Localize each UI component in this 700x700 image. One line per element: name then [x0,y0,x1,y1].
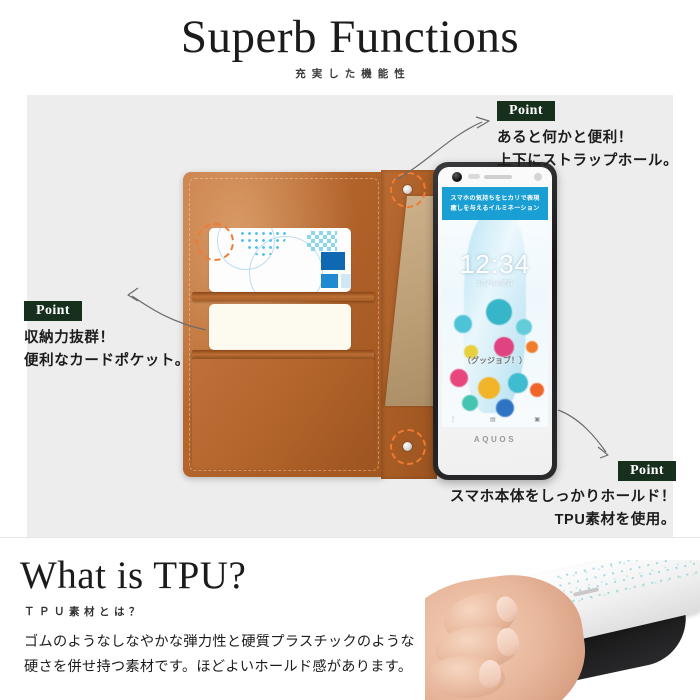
callout-text: スマホ本体をしっかりホールド！ TPU素材を使用。 [440,486,676,533]
tpu-body-line2: 硬さを併せ持つ素材です。ほどよいホールド感があります。 [24,655,424,680]
page-header: Superb Functions 充実した機能性 [0,0,700,92]
bokeh-dot [508,373,528,393]
card-dots-pattern [239,230,287,256]
screen-navbar: ⋮ ▤ ▣ [442,413,548,427]
callout-line1: 収納力抜群！ [24,327,204,350]
product-feature-page: Superb Functions 充実した機能性 [0,0,700,700]
screen-caption: （グッジョブ！） [442,355,548,366]
card-arc-icon [249,236,323,292]
product-photo: スマホの気持ちをヒカリで表現 癒しを与えるイルミネーション 12:34 5月7日… [150,150,590,495]
screen-banner: スマホの気持ちをヒカリで表現 癒しを与えるイルミネーション [442,187,548,220]
wallet-flap [183,172,383,477]
card-pocket-front [192,359,374,469]
point-badge: Point [497,101,555,121]
callout-line1: あると何かと便利！ [497,127,697,150]
tpu-body-line1: ゴムのようなしなやかな弾力性と硬質プラスチックのような [24,630,424,655]
bokeh-dot [486,299,512,325]
bokeh-dot [526,341,538,353]
callout-line2: TPU素材を使用。 [440,509,676,532]
callout-text: あると何かと便利！ 上下にストラップホール。 [497,127,697,174]
tpu-flex-photo [425,560,700,700]
tpu-title: What is TPU? [20,556,246,595]
dialer-icon: ⋮ [450,416,456,423]
point-badge: Point [24,301,82,321]
screen-banner-line2: 癒しを与えるイルミネーション [442,204,548,214]
tpu-subtitle: ＴＰＵ素材とは？ [24,604,144,619]
card-pocket-lip [192,350,374,359]
page-title: Superb Functions [0,14,700,61]
annotation-circle-card-pocket [196,223,234,261]
page-subtitle: 充実した機能性 [0,66,700,81]
bokeh-dot [478,377,500,399]
earpiece-icon [484,175,512,179]
bokeh-dot [516,319,532,335]
callout-line1: スマホ本体をしっかりホールド！ [440,486,676,509]
callout-card-pocket: Point 収納力抜群！ 便利なカードポケット。 [24,301,204,374]
bokeh-dot [450,369,468,387]
card-cream [209,304,351,350]
bokeh-dot [530,383,544,397]
apps-icon: ▤ [490,416,496,423]
card-square-icon [321,252,345,270]
section-divider [0,537,700,538]
proximity-sensor-icon [468,174,480,179]
lockscreen-date: 5月7日火曜日 [442,279,548,287]
callout-tpu-hold: Point スマホ本体をしっかりホールド！ TPU素材を使用。 [440,461,676,533]
camera-icon: ▣ [534,416,540,423]
tpu-case-frame: スマホの気持ちをヒカリで表現 癒しを与えるイルミネーション 12:34 5月7日… [433,162,557,480]
tpu-explainer-section: What is TPU? ＴＰＵ素材とは？ ゴムのようなしなやかな弾力性と硬質プ… [0,548,700,700]
annotation-circle-strap-hole-bottom [390,429,426,465]
leather-sheen [183,172,383,477]
notification-led-icon [534,173,542,181]
point-badge: Point [618,461,676,481]
bokeh-dot [454,315,472,333]
callout-line2: 便利なカードポケット。 [24,350,204,373]
tpu-body-text: ゴムのようなしなやかな弾力性と硬質プラスチックのような 硬さを併せ持つ素材です。… [24,630,424,681]
bokeh-dot [494,337,514,357]
lockscreen-clock: 12:34 [442,249,548,280]
card-square-icon [321,274,338,288]
card-check-pattern [307,231,337,251]
callout-line2: 上下にストラップホール。 [497,150,697,173]
bokeh-dot [462,395,478,411]
callout-strap-hole: Point あると何かと便利！ 上下にストラップホール。 [497,101,697,174]
phone-body: スマホの気持ちをヒカリで表現 癒しを与えるイルミネーション 12:34 5月7日… [438,167,552,475]
callout-text: 収納力抜群！ 便利なカードポケット。 [24,327,204,374]
front-camera-icon [452,172,462,182]
card-pocket-lip [192,292,374,301]
annotation-circle-strap-hole-top [390,172,426,208]
phone-brand-label: AQUOS [438,435,552,444]
phone-screen: スマホの気持ちをヒカリで表現 癒しを与えるイルミネーション 12:34 5月7日… [442,187,548,427]
screen-banner-line1: スマホの気持ちをヒカリで表現 [442,194,548,204]
card-square-icon [341,274,351,288]
